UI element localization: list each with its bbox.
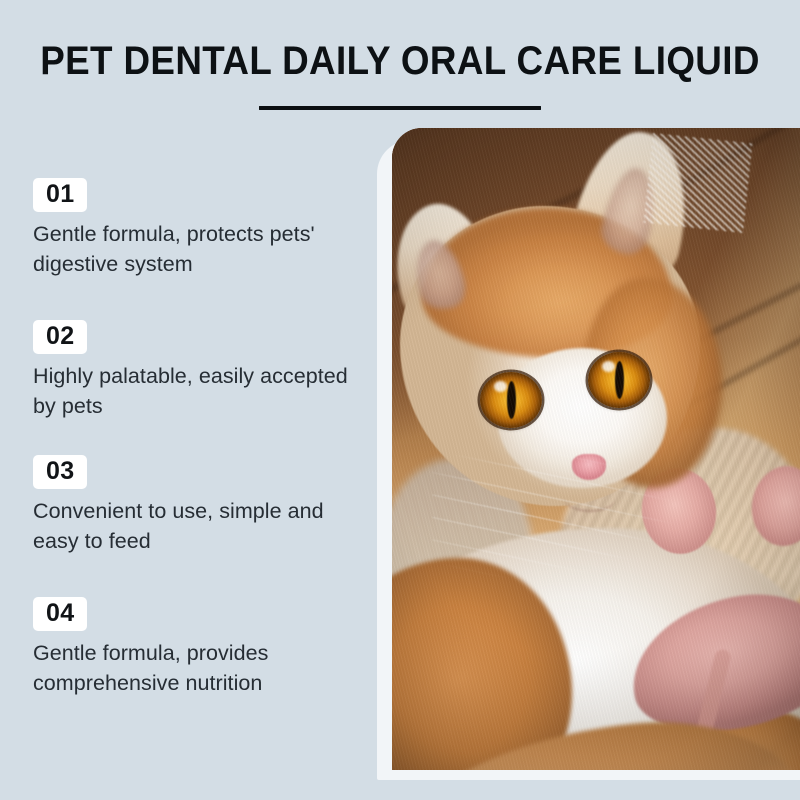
page-title: PET DENTAL DAILY ORAL CARE LIQUID	[32, 38, 768, 84]
kitten-eye-highlight	[602, 361, 615, 372]
feature-description: Gentle formula, protects pets' digestive…	[33, 219, 365, 279]
kitten-pupil	[615, 361, 624, 399]
kitten-eye-left	[480, 372, 542, 428]
title-underline-rule	[259, 106, 541, 110]
feature-item-04: 04 Gentle formula, provides comprehensiv…	[33, 597, 373, 698]
feature-number-badge: 02	[33, 320, 87, 354]
kitten-whiskers	[432, 448, 762, 608]
kitten-eye-highlight	[494, 381, 507, 392]
feature-description: Highly palatable, easily accepted by pet…	[33, 361, 365, 421]
kitten-photo	[392, 128, 800, 770]
feature-item-01: 01 Gentle formula, protects pets' digest…	[33, 178, 373, 279]
product-feature-poster: PET DENTAL DAILY ORAL CARE LIQUID 01 Gen…	[0, 0, 800, 800]
feature-number-badge: 01	[33, 178, 87, 212]
feature-number-badge: 03	[33, 455, 87, 489]
poster-header: PET DENTAL DAILY ORAL CARE LIQUID	[0, 0, 800, 110]
feature-list: 01 Gentle formula, protects pets' digest…	[0, 150, 372, 770]
feature-item-02: 02 Highly palatable, easily accepted by …	[33, 320, 373, 421]
kitten-ear-fur-tuft	[644, 133, 753, 233]
feature-number-badge: 04	[33, 597, 87, 631]
kitten-pupil	[507, 381, 516, 419]
feature-description: Convenient to use, simple and easy to fe…	[33, 496, 365, 556]
feature-item-03: 03 Convenient to use, simple and easy to…	[33, 455, 373, 556]
feature-description: Gentle formula, provides comprehensive n…	[33, 638, 365, 698]
kitten-eye-right	[588, 352, 650, 408]
